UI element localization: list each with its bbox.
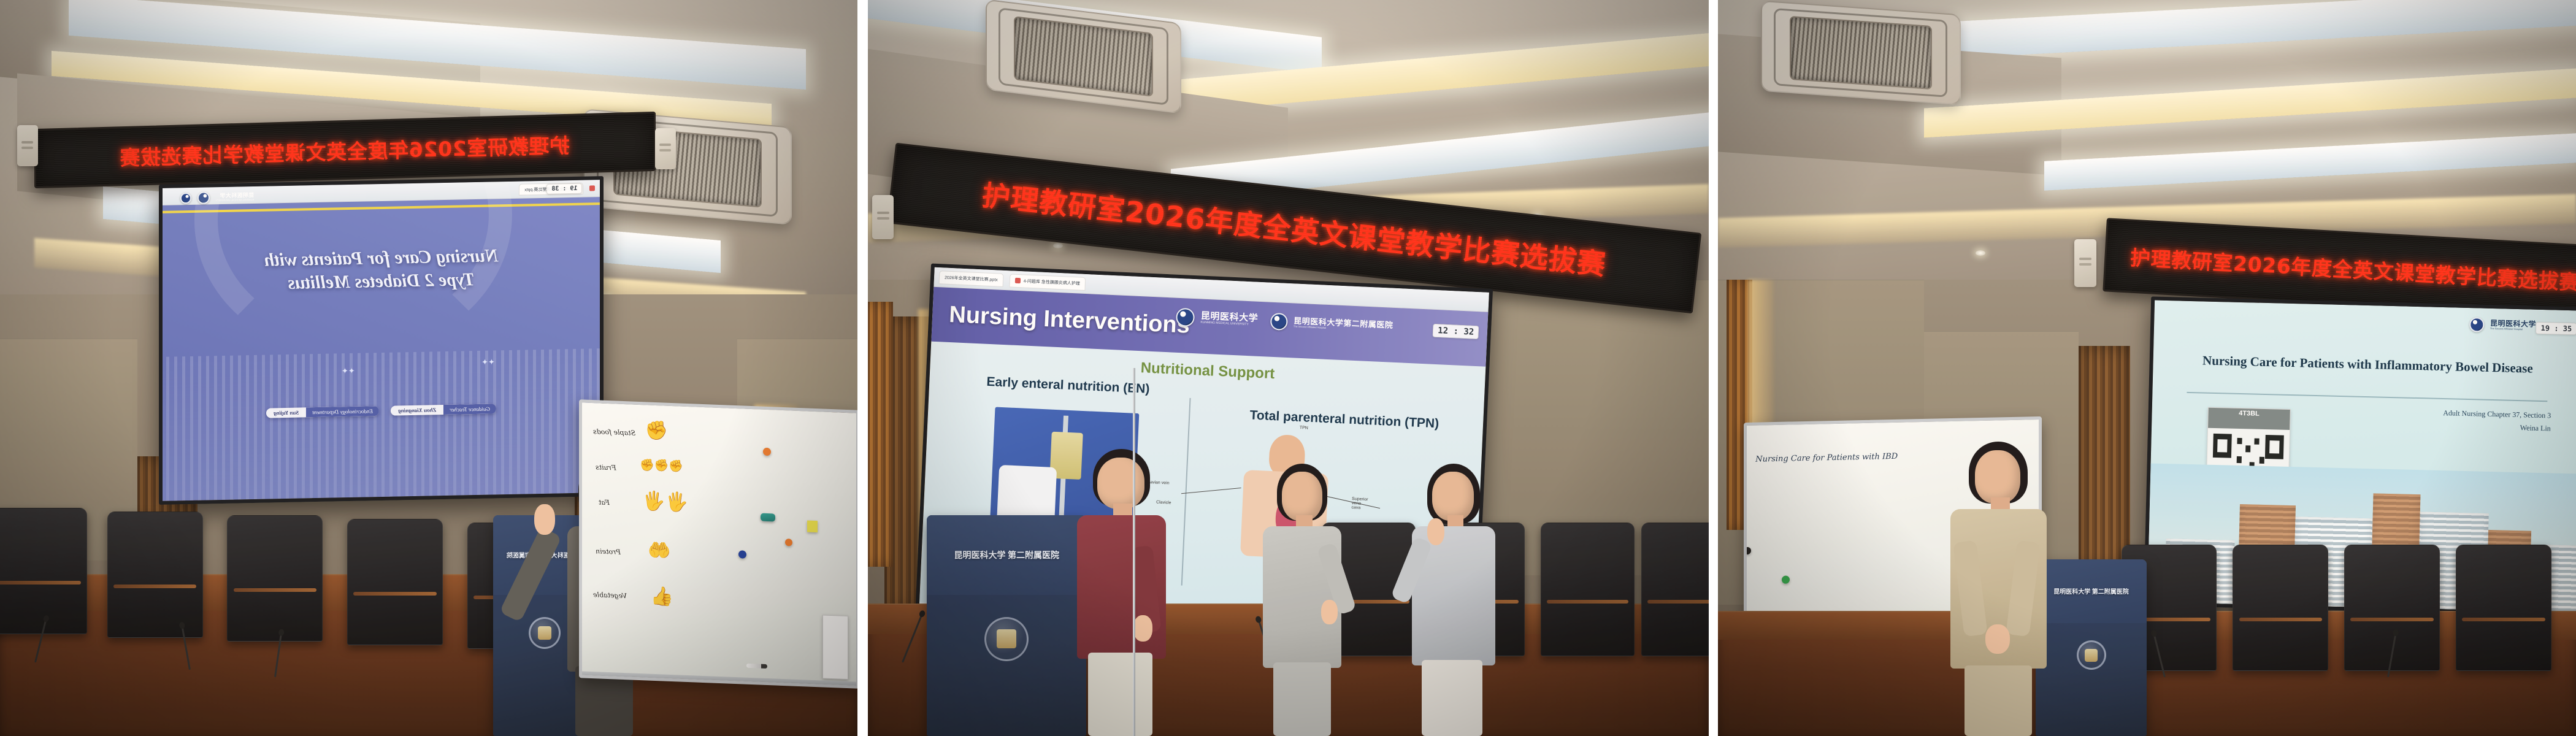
magnet[interactable] [1782,575,1790,583]
legs [1965,665,2031,736]
hospital-seal [984,617,1029,661]
legs [1088,653,1152,736]
whiteboard-label: Staple foods [593,427,635,437]
hospital-name: 昆明医科大学第二附属医院 The Second Affiliated Hospi… [1294,317,1393,332]
whiteboard-label: Fruits [596,463,616,472]
air-conditioner-cassette [1761,1,1961,105]
slide-meta-line-2: Weina Lin [2442,420,2550,435]
head [1097,458,1144,509]
credit-chip-value: Sun Yujing [266,407,306,418]
university-crest-icon [2469,317,2484,332]
whiteboard: Staple foods Fruits Fat Protein Vegetabl… [579,399,857,689]
hand [1321,600,1338,624]
presenter-person [1924,442,2070,736]
podium-text: 昆明医科大学 第二附属医院 [954,549,1059,561]
hand [1427,518,1445,545]
tab-icon [1015,278,1021,283]
panel-2: 护理教研室2026年度全英文课堂教学比赛选拔赛 2026年全英文课堂比赛.ppt… [868,0,1709,736]
hospital-crest-icon [180,193,191,204]
chair [2233,545,2328,671]
sticky-note[interactable] [807,520,817,532]
hospital-seal [2077,640,2106,670]
browser-tab-2-label: 4-问题库 急性胰腺炎病人护理 [1024,278,1081,286]
thumb-up-icon: 👍 [650,588,673,607]
downlight [1976,250,1985,256]
anatomy-label: TPN [1300,426,1308,431]
slide-ornament: ✦✦ [481,357,495,367]
student-person-right [1389,464,1516,736]
wall-speaker [17,125,38,166]
slide-logo-bar: 昆明医科大学 KUNMING MEDICAL UNIVERSITY 昆明医科大学… [1176,308,1393,336]
three-fists-icon: ✊✊✊ [640,459,683,473]
panel-1: 护理教研室2026年度全英文课堂教学比赛选拔赛 2026年全英文课堂比赛.ppt… [0,0,857,736]
presentation-timer: 19 : 38 [546,183,582,194]
open-palms-icon: 🖐🖐 [642,492,688,512]
browser-tab-label[interactable]: 2026年全英文课堂比赛.pptx [939,270,1004,287]
magnet[interactable] [1744,547,1751,554]
wall-speaker [872,195,894,239]
projection-screen: 2026年全英文课堂比赛.pptx 19 : 38 昆明医科大学 KUNMING… [159,176,604,505]
slide-meta-line-1: Adult Nursing Chapter 37, Section 3 [2443,407,2551,422]
column-title-right: Total parenteral nutrition (TPN) [1217,407,1473,433]
whiteboard-marker[interactable] [746,664,767,669]
credit-chip-key: Endocrinology Department [306,406,379,417]
slide-diabetes-title: 2026年全英文课堂比赛.pptx 19 : 38 昆明医科大学 KUNMING… [163,180,600,501]
chair [347,519,443,645]
tab-icon [589,185,595,191]
student-person-left [1053,449,1187,736]
slide-rule [2187,391,2547,401]
whiteboard-label: Fat [598,499,609,507]
presentation-timer: 12 : 32 [1433,324,1479,339]
chair [107,512,203,638]
hand [1133,615,1152,641]
chair [0,508,87,634]
whiteboard-label: Protein [596,548,621,557]
iv-pole-prop [1133,368,1135,736]
chair [227,515,323,642]
head [1282,472,1322,521]
fist-icon: ✊ [645,421,668,440]
head [1975,450,2020,503]
legs [1273,662,1332,736]
credit-chip-key: Guidance Teacher [443,404,496,415]
cupped-palm-icon: 🤲 [648,542,670,561]
led-banner-text: 护理教研室2026年度全英文课堂教学比赛选拔赛 [2129,242,2576,296]
whiteboard-eraser[interactable] [760,513,775,521]
led-banner-text: 护理教研室2026年度全英文课堂教学比赛选拔赛 [120,129,570,171]
slide-ornament: ✦✦ [342,366,355,376]
label-leader-line [1181,488,1241,494]
credit-chip: Guidance Teacher Zhou Xiangning [391,404,496,415]
chair [1641,523,1709,656]
head [1432,472,1474,521]
panel-gap [1709,0,1718,736]
university-name: 昆明医科大学 The Second Affiliated Hospital [2490,320,2536,331]
university-name: 昆明医科大学 KUNMING MEDICAL UNIVERSITY [1200,312,1258,327]
magnet[interactable] [738,550,746,558]
wood-accent-wall [868,302,893,567]
magnet[interactable] [785,539,792,546]
slide-title: Nursing Care for Patients with Type 2 Di… [188,243,573,297]
presentation-timer: 19 : 35 [2536,321,2576,335]
university-crest-icon [1176,308,1195,327]
raised-hand [534,504,555,535]
chair [2456,545,2551,671]
qr-code-caption: 4T3BL [2207,408,2290,430]
magnet[interactable] [763,448,771,456]
picture-card [822,615,848,680]
wall-speaker [2074,239,2096,287]
slide-logo-bar: 昆明医科大学 The Second Affiliated Hospital [2469,317,2536,334]
credit-chip-value: Zhou Xiangning [391,405,443,416]
chair [1541,523,1635,656]
slide-meta: Adult Nursing Chapter 37, Section 3 Wein… [2442,407,2551,434]
whiteboard-label: Vegetable [593,591,627,600]
downlight [1053,243,1063,248]
wall-speaker [655,128,676,169]
legs [1422,660,1482,736]
panel-3: 护理教研室2026年度全英文课堂教学比赛选拔赛 昆明医科大学 The Secon… [1718,0,2576,736]
panel-gap [857,0,868,736]
hands-clasped [1985,624,2010,654]
photo-triptych: 护理教研室2026年度全英文课堂教学比赛选拔赛 2026年全英文课堂比赛.ppt… [0,0,2576,736]
hospital-crest-icon [1270,313,1288,331]
teacher-person-center [1238,464,1364,736]
slide-header-title: Nursing Interventions [949,302,1190,339]
whiteboard-handwriting: Nursing Care for Patients with IBD [1755,451,1898,464]
ac-vent-grille [1790,16,1932,90]
slide-title: Nursing Care for Patients with Inflammat… [2179,352,2556,377]
browser-tab-2[interactable]: 4-问题库 急性胰腺炎病人护理 [1009,274,1086,291]
